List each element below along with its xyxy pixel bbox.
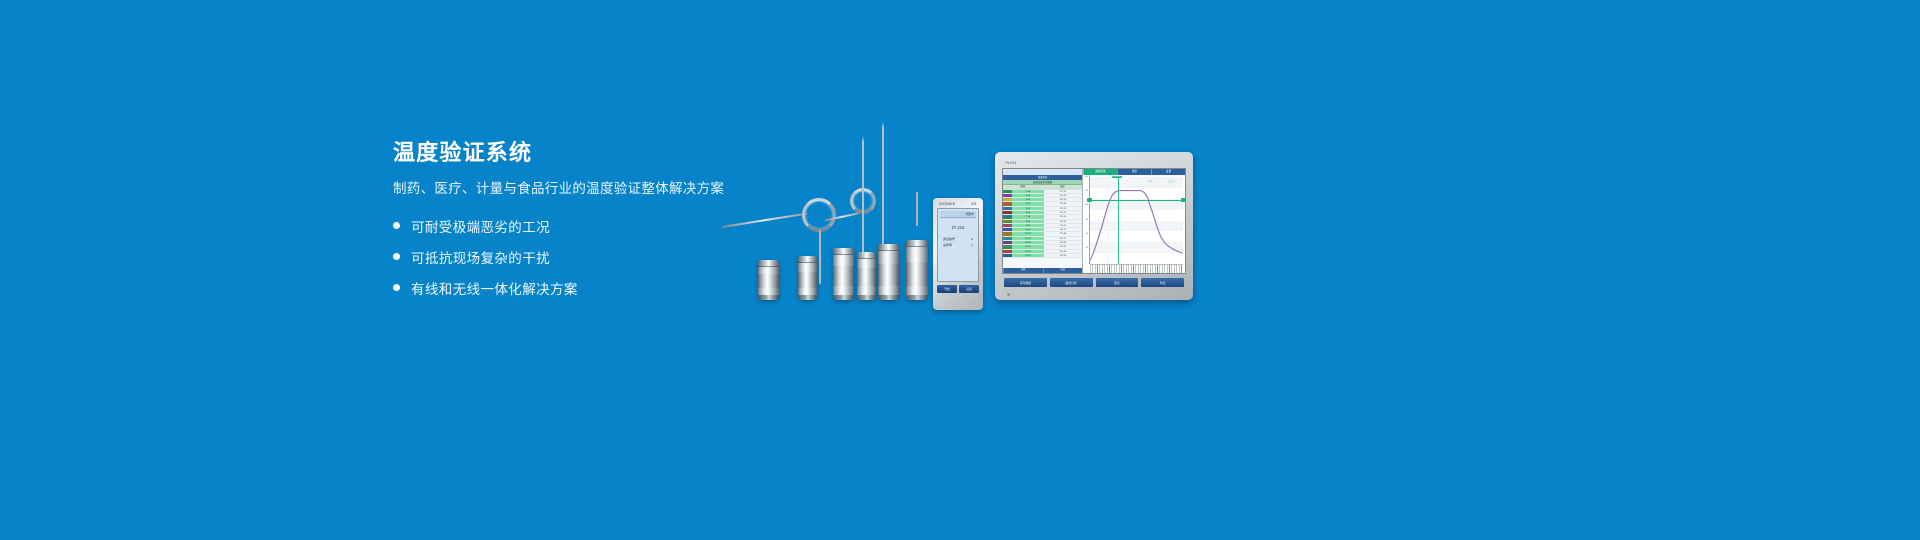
temperature-curve-chart: 140 120 100 80 60 40 [1083, 175, 1185, 273]
cell-temperature: 121.11 [1044, 228, 1082, 231]
channel-color-swatch [1003, 202, 1012, 205]
logger-cap [798, 256, 817, 263]
cell-temperature: 121.63 [1044, 241, 1082, 244]
cell-temperature: 121.05 [1044, 215, 1082, 218]
logger-sleeve [798, 272, 817, 288]
logger-base [833, 295, 854, 300]
cell-temperature: 121.39 [1044, 220, 1082, 223]
cell-channel: T6-A [1012, 211, 1044, 214]
y-tick: 100 [1085, 204, 1088, 206]
logger-with-stem [857, 252, 876, 300]
logger-cap [906, 240, 928, 247]
feature-text: 可抵抗现场复杂的干扰 [411, 247, 550, 267]
monitor-brand: INON [1005, 160, 1186, 165]
channel-color-swatch [1003, 245, 1012, 248]
logger-tall [878, 244, 899, 300]
cell-temperature: 121.27 [1044, 237, 1082, 240]
handheld-button-row: 开始 设置 [937, 285, 979, 293]
feature-text: 有线和无线一体化解决方案 [411, 278, 578, 298]
cell-temperature: 121.45 [1044, 202, 1082, 205]
chart-plot-area: 121.3℃ F0值 设定值 [1090, 177, 1183, 264]
cell-channel: T16-B [1012, 254, 1044, 257]
logger-medium [833, 248, 854, 300]
table-footer-select-all[interactable]: 全选 [1043, 268, 1083, 273]
cell-temperature: 121.31 [1044, 190, 1082, 193]
handheld-row: 采样率 1 [940, 242, 976, 248]
channel-color-swatch [1003, 194, 1012, 197]
cell-channel: T7-A [1012, 215, 1044, 218]
table-footer-select[interactable]: 选择 [1003, 268, 1043, 273]
handheld-row-label: 采样率 [943, 243, 952, 247]
needle-probe-tall [862, 142, 864, 270]
channel-color-swatch [1003, 241, 1012, 244]
cell-channel: T8-A [1012, 220, 1044, 223]
logger-sleeve [906, 262, 928, 286]
cell-channel: T1-A [1012, 190, 1044, 193]
cell-temperature: 121.52 [1044, 224, 1082, 227]
logger-base [857, 295, 876, 300]
tab-report[interactable]: 报表 [1096, 278, 1139, 287]
cell-channel: T2-A [1012, 194, 1044, 197]
channel-color-swatch [1003, 224, 1012, 227]
cell-channel: T4-A [1012, 202, 1044, 205]
cell-channel: T13-B [1012, 241, 1044, 244]
tab-export[interactable]: 导出 [1141, 278, 1184, 287]
feature-text: 可耐受极端恶劣的工况 [411, 216, 550, 236]
cell-temperature: 121.67 [1044, 211, 1082, 214]
cell-temperature: 121.09 [1044, 245, 1082, 248]
monitor-screen: 数据采集 报表 设置 温度验证 通道温度实时数据 通道 温度 T1-A121.3… [1002, 168, 1186, 274]
table-row[interactable]: T16-B121.58 [1003, 254, 1082, 258]
handheld-screen-title: 测量中 [940, 211, 976, 218]
cell-channel: T3-A [1012, 198, 1044, 201]
channel-color-swatch [1003, 232, 1012, 235]
cell-channel: T15-B [1012, 250, 1044, 253]
chart-x-axis-ticks [1090, 264, 1183, 273]
cell-temperature: 121.44 [1044, 250, 1082, 253]
cell-temperature: 121.80 [1044, 232, 1082, 235]
y-tick: 80 [1086, 219, 1088, 221]
product-image-group: INONIKE M1 测量中 27.215 通道编号 8 采样率 1 开始 设置 [700, 120, 1220, 320]
cell-channel: T10-B [1012, 228, 1044, 231]
handheld-row-value: 8 [971, 237, 973, 241]
handheld-row-value: 1 [971, 243, 973, 247]
logger-cap [857, 252, 876, 259]
handheld-model: M1 [972, 202, 978, 206]
logger-cap [878, 244, 899, 251]
logger-base [878, 295, 899, 300]
logger-small-1 [758, 260, 779, 300]
channel-color-swatch [1003, 215, 1012, 218]
logger-sleeve [878, 264, 899, 286]
table-body: T1-A121.31T2-A121.18T3-A121.74T4-A121.45… [1003, 190, 1082, 269]
logger-sleeve [758, 274, 779, 288]
bullet-dot-icon [393, 222, 400, 229]
cell-channel: T5-A [1012, 207, 1044, 210]
logger-base [906, 295, 928, 300]
table-footer: 选择 全选 [1003, 268, 1082, 273]
logger-wide [906, 240, 928, 300]
cell-channel: T9-B [1012, 224, 1044, 227]
logger-base [798, 295, 817, 300]
logger-sleeve [857, 268, 876, 286]
handheld-screen: 测量中 27.215 通道编号 8 采样率 1 [937, 208, 979, 282]
cell-temperature: 121.58 [1044, 254, 1082, 257]
software-tab-bar: 实时数据 曲线分析 报表 导出 [1002, 278, 1186, 287]
handheld-settings-button[interactable]: 设置 [959, 285, 979, 293]
logger-cap [833, 248, 854, 255]
monitor-power-led-icon [1007, 293, 1010, 296]
channel-color-swatch [1003, 190, 1012, 193]
logger-cap [758, 260, 779, 267]
cell-temperature: 121.74 [1044, 198, 1082, 201]
handheld-brand: INONIKE [939, 202, 956, 206]
channel-color-swatch [1003, 220, 1012, 223]
y-tick: 120 [1085, 190, 1088, 192]
channel-color-swatch [1003, 198, 1012, 201]
logger-small-2 [798, 256, 817, 300]
handheld-reading: 27.215 [940, 225, 976, 230]
cell-temperature: 121.22 [1044, 207, 1082, 210]
channel-data-table: 温度验证 通道温度实时数据 通道 温度 T1-A121.31T2-A121.18… [1003, 175, 1083, 273]
handheld-reader-device: INONIKE M1 测量中 27.215 通道编号 8 采样率 1 开始 设置 [933, 198, 983, 310]
tab-curve-analysis[interactable]: 曲线分析 [1050, 278, 1093, 287]
channel-color-swatch [1003, 237, 1012, 240]
y-tick: 140 [1085, 176, 1088, 178]
channel-color-swatch [1003, 211, 1012, 214]
handheld-start-button[interactable]: 开始 [937, 285, 957, 293]
channel-color-swatch [1003, 254, 1012, 257]
logger-antenna-stem [916, 192, 918, 226]
bullet-dot-icon [393, 284, 400, 291]
logger-base [758, 295, 779, 300]
cell-channel: T11-B [1012, 232, 1044, 235]
tab-realtime-data[interactable]: 实时数据 [1004, 278, 1047, 287]
logger-sleeve [833, 266, 854, 286]
hero-banner: 温度验证系统 制药、医疗、计量与食品行业的温度验证整体解决方案 可耐受极端恶劣的… [0, 0, 1920, 540]
temperature-curve-line [1090, 177, 1183, 264]
cell-channel: T14-B [1012, 245, 1044, 248]
bullet-dot-icon [393, 253, 400, 260]
y-tick: 40 [1086, 247, 1088, 249]
channel-color-swatch [1003, 228, 1012, 231]
channel-color-swatch [1003, 207, 1012, 210]
cell-temperature: 121.18 [1044, 194, 1082, 197]
channel-color-swatch [1003, 250, 1012, 253]
cell-channel: T12-B [1012, 237, 1044, 240]
software-body: 温度验证 通道温度实时数据 通道 温度 T1-A121.31T2-A121.18… [1003, 175, 1185, 273]
chart-y-axis: 140 120 100 80 60 40 [1083, 175, 1090, 264]
handheld-row-label: 通道编号 [943, 237, 955, 241]
y-tick: 60 [1086, 233, 1088, 235]
validation-software-monitor: INON 数据采集 报表 设置 温度验证 通道温度实时数据 通道 温度 [995, 152, 1193, 300]
